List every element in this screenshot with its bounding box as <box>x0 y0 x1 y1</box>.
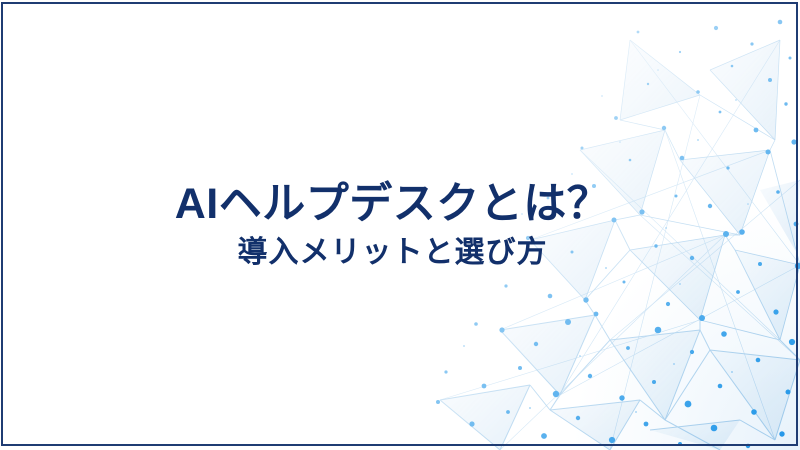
title-slide: AIヘルプデスクとは？ 導入メリットと選び方 <box>0 0 800 450</box>
network-mesh-graphic <box>380 0 800 450</box>
